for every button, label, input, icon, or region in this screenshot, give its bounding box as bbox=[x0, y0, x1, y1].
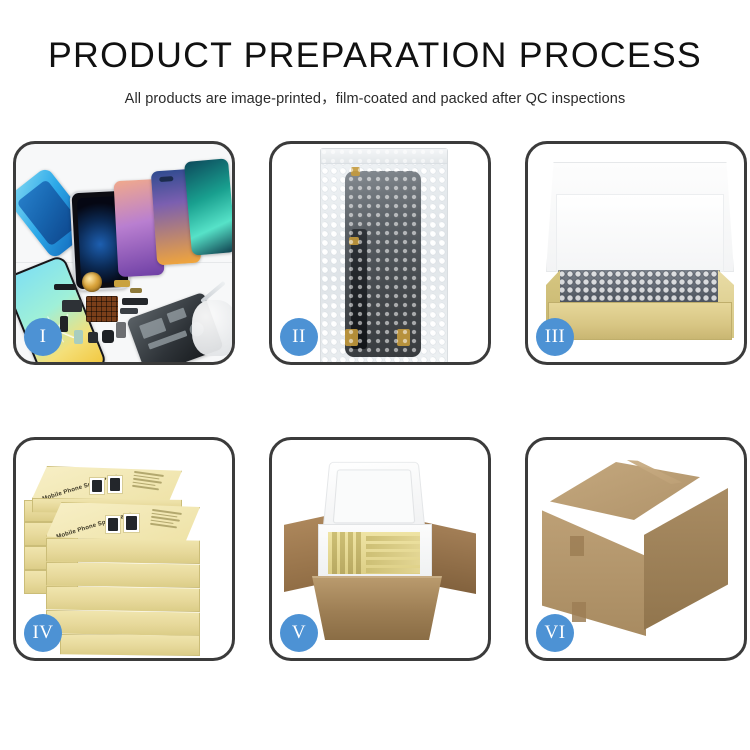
step-badge-5: V bbox=[280, 614, 318, 652]
step-badge-3: III bbox=[536, 318, 574, 356]
step-card-3: III bbox=[525, 141, 747, 365]
page-subtitle: All products are image-printed，film-coat… bbox=[0, 87, 750, 108]
step-badge-2: II bbox=[280, 318, 318, 356]
step-badge-4: IV bbox=[24, 614, 62, 652]
retail-box-brand-text-b: Mobile Phone Spare Parts bbox=[56, 512, 133, 541]
page-header: PRODUCT PREPARATION PROCESS All products… bbox=[0, 0, 750, 108]
step-card-2: II bbox=[269, 141, 491, 365]
step-badge-6: VI bbox=[536, 614, 574, 652]
step-card-1: I bbox=[13, 141, 235, 365]
step-card-5: V bbox=[269, 437, 491, 661]
step-card-4: Mobile Phone Spare Parts Mobile Phone Sp… bbox=[13, 437, 235, 661]
step-badge-1: I bbox=[24, 318, 62, 356]
page-title: PRODUCT PREPARATION PROCESS bbox=[0, 38, 750, 75]
process-steps-grid: I II III bbox=[13, 141, 747, 661]
step-card-6: VI bbox=[525, 437, 747, 661]
